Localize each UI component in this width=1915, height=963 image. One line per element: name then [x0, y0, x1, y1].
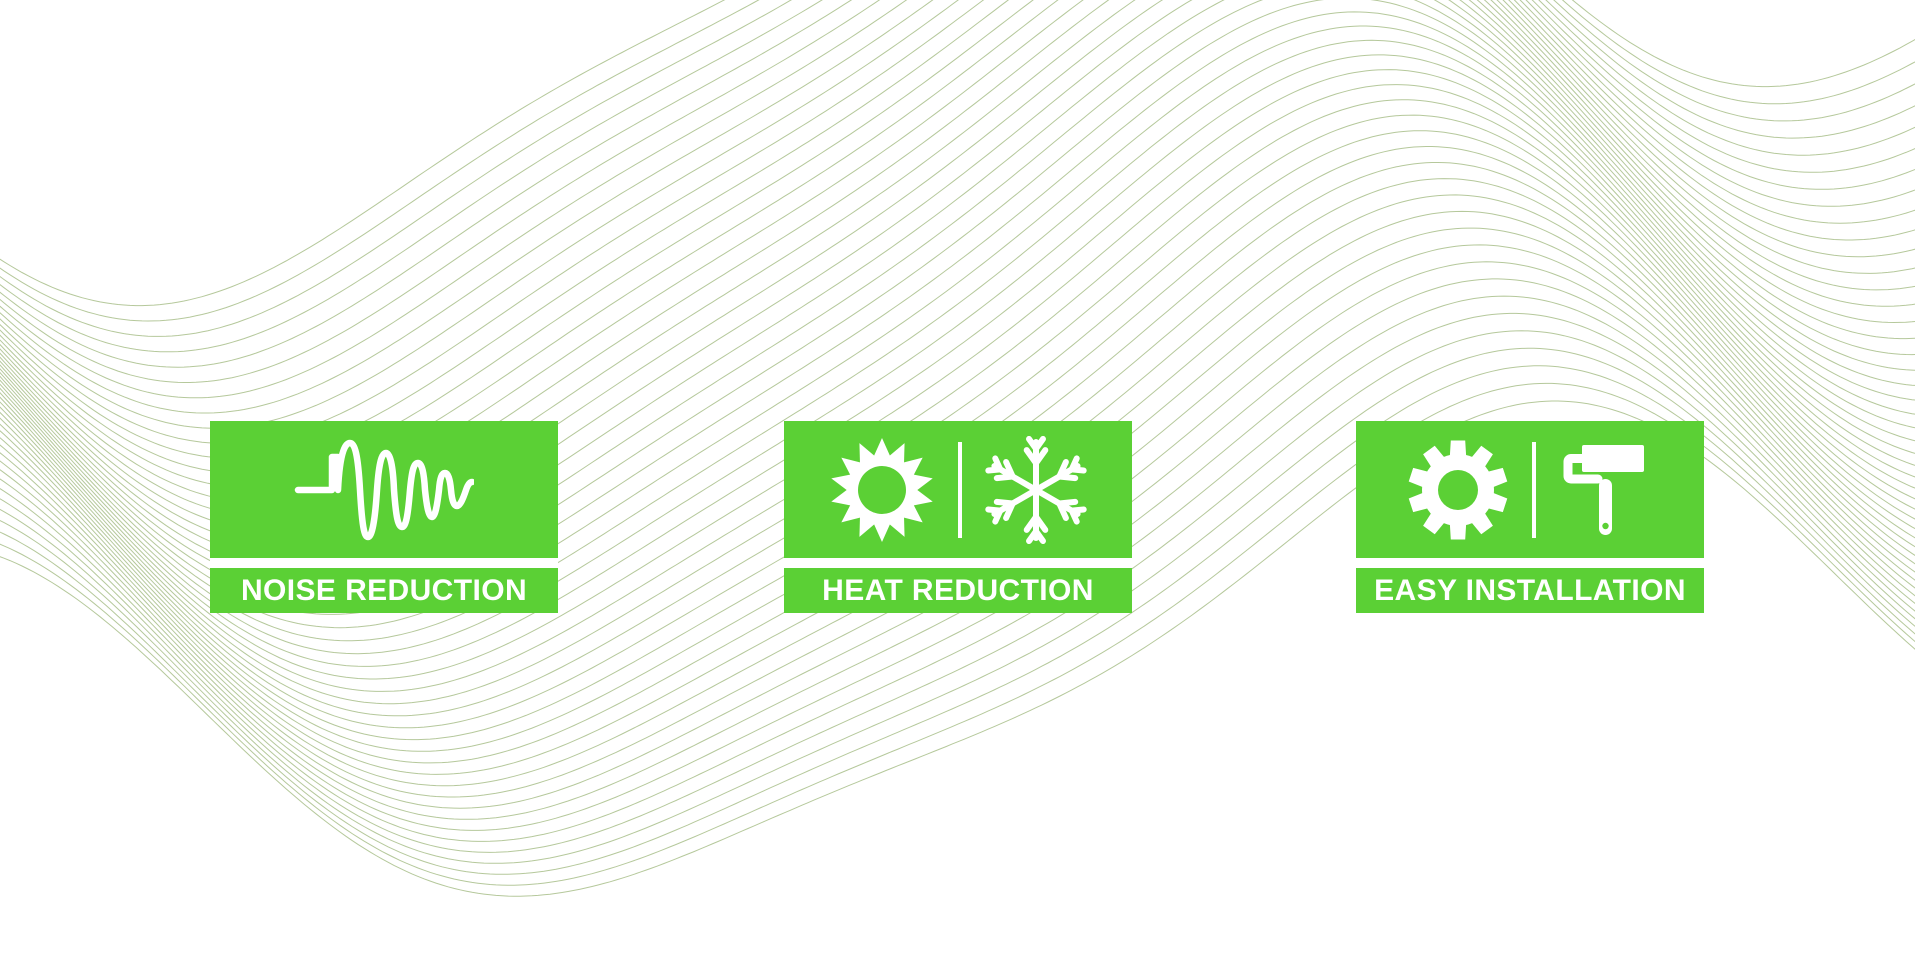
paint-roller-icon — [1558, 436, 1654, 544]
badge-label: HEAT REDUCTION — [822, 576, 1094, 606]
sun-icon — [828, 436, 936, 544]
badge-label-bar: HEAT REDUCTION — [784, 568, 1132, 613]
divider-icon — [1532, 442, 1536, 538]
gear-icon — [1406, 438, 1510, 542]
badge-label-bar: EASY INSTALLATION — [1356, 568, 1704, 613]
sound-wave-icon — [294, 435, 474, 545]
badge-gap — [1356, 558, 1704, 568]
feature-badges-canvas: NOISE REDUCTION — [0, 0, 1915, 963]
snowflake-icon — [984, 436, 1088, 544]
badge-icon-box — [210, 421, 558, 558]
badge-label: NOISE REDUCTION — [241, 576, 527, 606]
badge-label: EASY INSTALLATION — [1374, 576, 1686, 606]
badge-row: NOISE REDUCTION — [0, 0, 1915, 963]
badge-easy-installation[interactable]: EASY INSTALLATION — [1356, 421, 1704, 613]
divider-icon — [958, 442, 962, 538]
icon-pair — [1406, 436, 1654, 544]
badge-heat-reduction[interactable]: HEAT REDUCTION — [784, 421, 1132, 613]
badge-gap — [784, 558, 1132, 568]
icon-pair — [828, 436, 1088, 544]
badge-noise-reduction[interactable]: NOISE REDUCTION — [210, 421, 558, 613]
badge-icon-box — [784, 421, 1132, 558]
badge-label-bar: NOISE REDUCTION — [210, 568, 558, 613]
badge-gap — [210, 558, 558, 568]
badge-icon-box — [1356, 421, 1704, 558]
